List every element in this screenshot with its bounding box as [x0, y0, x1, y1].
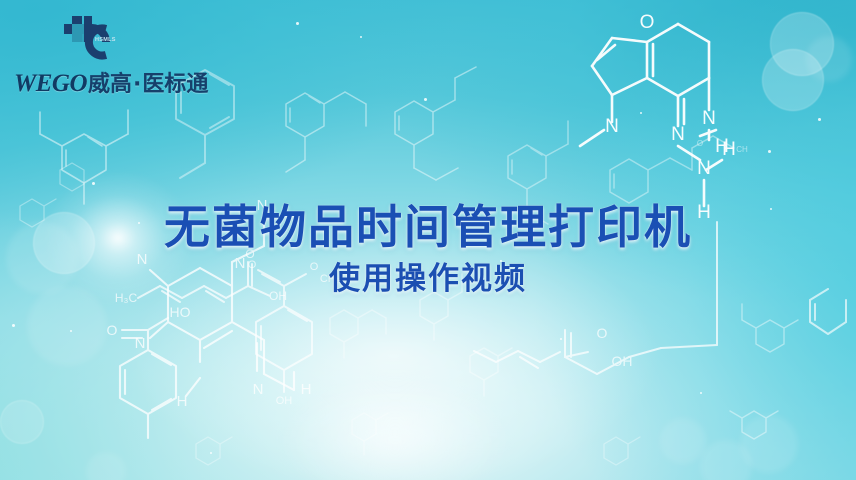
- spark-4: [70, 330, 72, 332]
- spark-5: [296, 22, 299, 25]
- spark-12: [700, 392, 702, 394]
- lens-flare-bottom: [245, 355, 545, 480]
- wordmark-cjk-left: 威高: [88, 72, 132, 97]
- spark-15: [210, 452, 212, 454]
- spark-7: [424, 98, 427, 101]
- spark-1: [92, 182, 95, 185]
- bokeh-circle-7: [762, 49, 824, 111]
- title-block: 无菌物品时间管理打印机 使用操作视频: [0, 200, 856, 298]
- emblem-inner-text: HSMLS: [95, 37, 116, 43]
- brand-logo: HSMLS WEGO威高·医标通: [14, 14, 194, 92]
- spark-8: [640, 112, 642, 114]
- spark-11: [768, 150, 771, 153]
- wego-emblem-icon: HSMLS: [58, 14, 128, 64]
- brand-wordmark: WEGO威高·医标通: [14, 66, 194, 92]
- bokeh-circle-4: [0, 400, 44, 444]
- bokeh-circle-10: [660, 418, 706, 464]
- wordmark-separator: ·: [133, 72, 141, 97]
- page-title: 无菌物品时间管理打印机: [0, 200, 856, 254]
- video-title-slide: O N H N N H H N: [0, 0, 856, 480]
- bokeh-circle-3: [27, 286, 107, 366]
- page-subtitle: 使用操作视频: [0, 260, 856, 298]
- wordmark-latin: WEGO: [14, 70, 87, 97]
- spark-9: [818, 118, 821, 121]
- spark-13: [560, 338, 562, 340]
- wordmark-cjk-right: 医标通: [142, 72, 208, 97]
- spark-3: [12, 324, 15, 327]
- spark-6: [360, 36, 362, 38]
